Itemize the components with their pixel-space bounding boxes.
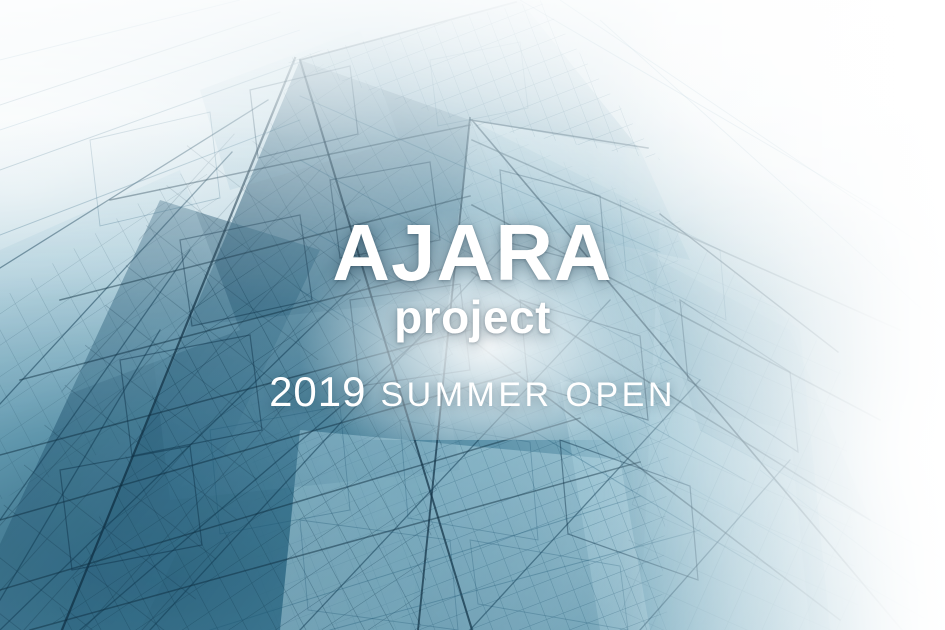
- right-edge-fade: [620, 0, 945, 630]
- poster-canvas: AJARA project 2019SUMMER OPEN: [0, 0, 945, 630]
- architecture-wireframe-artwork: [0, 0, 945, 630]
